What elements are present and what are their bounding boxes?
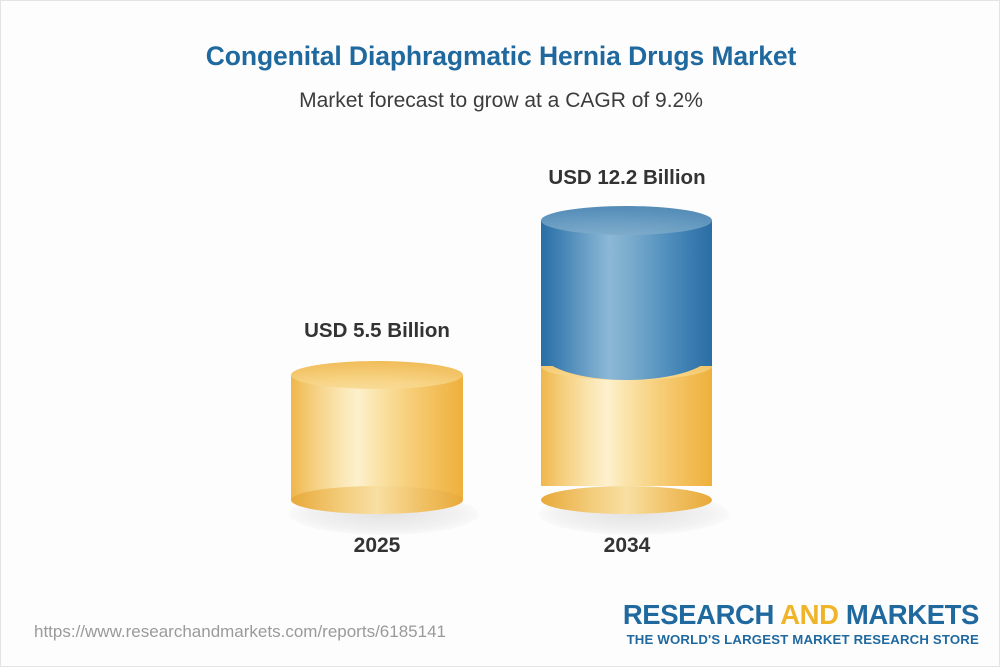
page-title: Congenital Diaphragmatic Hernia Drugs Ma… (1, 41, 1000, 72)
bar-2025-bottom-cap (291, 486, 463, 514)
bar-2034-body (541, 220, 712, 366)
bar-2034-base-segment-body (541, 366, 712, 486)
bar-2025[interactable] (291, 361, 463, 514)
bar-category-label-2025: 2025 (277, 534, 477, 558)
bar-2034-bottom-cap (541, 486, 712, 514)
report-url-link[interactable]: https://www.researchandmarkets.com/repor… (34, 622, 446, 642)
chart-canvas: Congenital Diaphragmatic Hernia Drugs Ma… (0, 0, 1000, 667)
logo-wordmark: RESEARCH AND MARKETS (623, 601, 979, 630)
bar-category-label-2034: 2034 (527, 534, 727, 558)
chart-subtitle: Market forecast to grow at a CAGR of 9.2… (1, 89, 1000, 113)
logo-word-markets: MARKETS (839, 599, 979, 630)
logo-word-research: RESEARCH (623, 599, 780, 630)
bar-2034-top-cap (541, 206, 712, 235)
bar-2034[interactable] (541, 206, 712, 514)
bar-value-label-2025: USD 5.5 Billion (277, 319, 477, 343)
bar-2025-body (291, 375, 463, 500)
research-and-markets-logo[interactable]: RESEARCH AND MARKETS THE WORLD'S LARGEST… (623, 601, 979, 647)
logo-word-and: AND (780, 599, 838, 630)
bar-2025-top-cap (291, 361, 463, 389)
bar-value-label-2034: USD 12.2 Billion (527, 166, 727, 190)
logo-tagline: THE WORLD'S LARGEST MARKET RESEARCH STOR… (623, 632, 979, 647)
